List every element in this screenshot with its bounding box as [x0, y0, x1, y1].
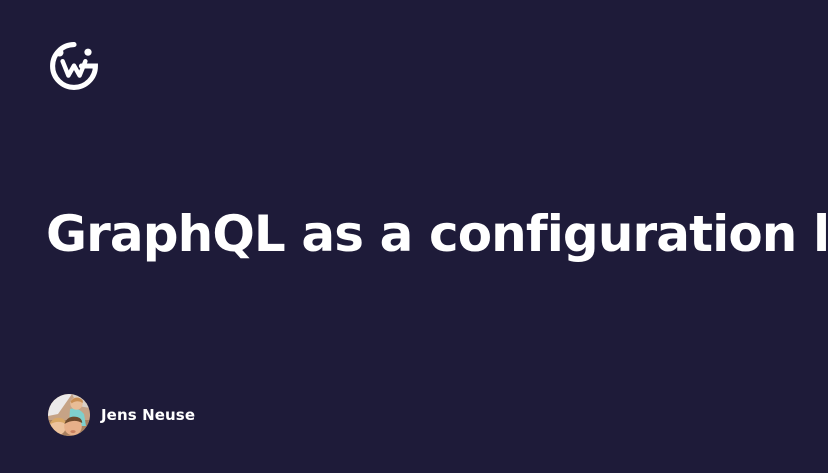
- author-avatar: [48, 394, 90, 436]
- author-name: Jens Neuse: [101, 406, 195, 424]
- slide-title: GraphQL as a configuration language?: [46, 206, 786, 262]
- wundergraph-logo[interactable]: [48, 40, 100, 92]
- presentation-slide: GraphQL as a configuration language?: [0, 0, 828, 473]
- author-byline: Jens Neuse: [48, 394, 195, 436]
